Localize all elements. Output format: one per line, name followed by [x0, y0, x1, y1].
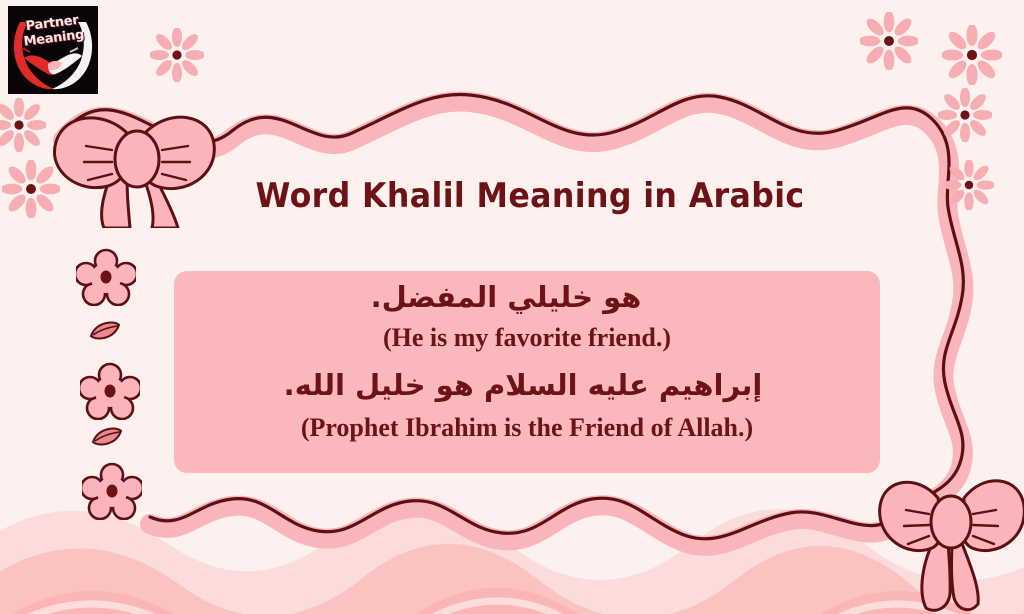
five-petal-flower-icon [82, 462, 142, 520]
five-petal-flower-icon [76, 248, 136, 306]
example-1-english: (He is my favorite friend.) [174, 321, 880, 355]
daisy-flower-icon [0, 98, 46, 152]
daisy-flower-icon [150, 28, 204, 82]
petal-leaf-icon [88, 318, 122, 342]
daisy-flower-icon [938, 88, 992, 142]
example-2-arabic: إبراهيم عليه السلام هو خليل الله. [174, 365, 880, 405]
page-title: Word Khalil Meaning in Arabic [177, 176, 884, 216]
five-petal-flower-icon [80, 362, 140, 420]
poster-canvas: Partner Meaning Word Khalil Meaning in A… [0, 0, 1024, 614]
ribbon-bow-icon [872, 452, 1024, 614]
example-2-english: (Prophet Ibrahim is the Friend of Allah.… [174, 411, 880, 445]
petal-leaf-icon [90, 424, 124, 448]
partner-meaning-logo[interactable]: Partner Meaning [8, 6, 98, 94]
daisy-flower-icon [942, 25, 1002, 85]
example-1-arabic: هو خليلي المفضل. [174, 277, 880, 317]
examples-card: هو خليلي المفضل. (He is my favorite frie… [174, 271, 880, 473]
daisy-flower-icon [944, 160, 994, 210]
daisy-flower-icon [860, 12, 918, 70]
